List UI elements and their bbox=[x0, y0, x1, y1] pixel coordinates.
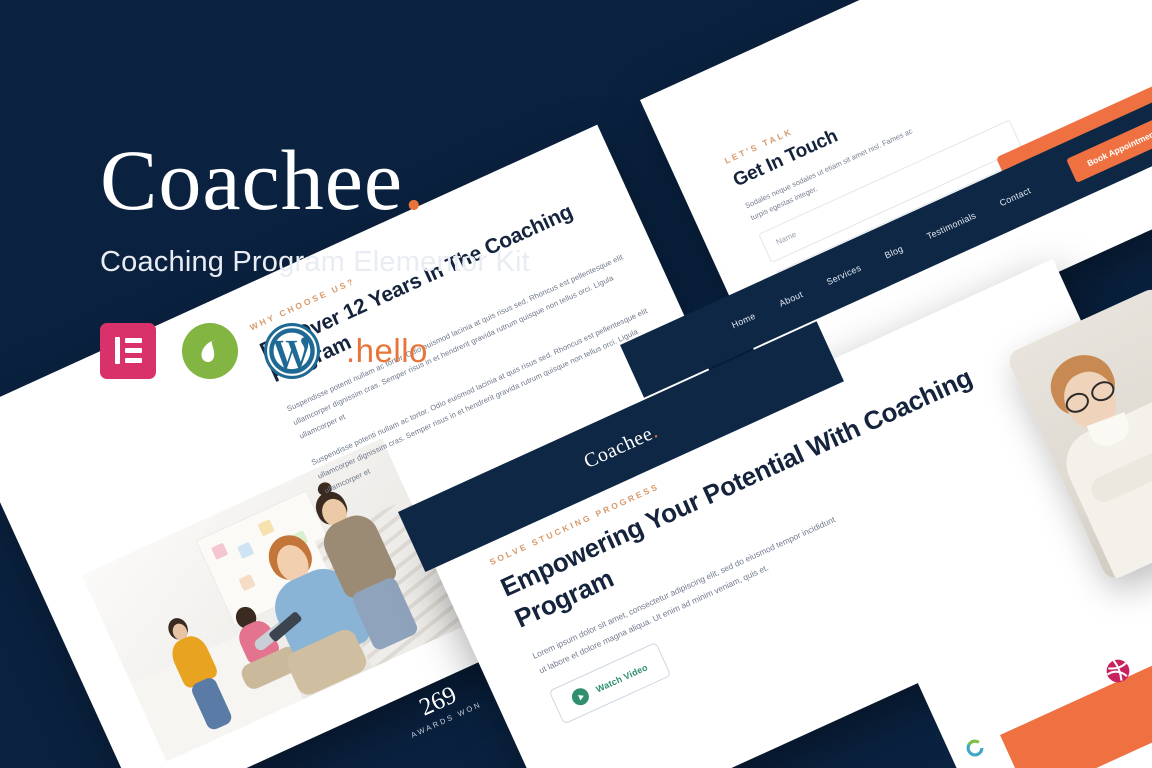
loading-ring-logo bbox=[965, 738, 985, 758]
page-title: Coachee. bbox=[100, 140, 620, 222]
play-icon bbox=[569, 686, 592, 709]
sticky-note bbox=[239, 574, 256, 591]
tech-badges: .hello bbox=[100, 323, 620, 379]
sticky-note bbox=[211, 543, 228, 560]
footer-logo: Coachee. bbox=[580, 420, 661, 474]
nav-item-home[interactable]: Home bbox=[730, 311, 757, 331]
brand-title-dot: . bbox=[403, 132, 426, 228]
envato-glyph bbox=[193, 334, 227, 368]
nav-item-blog[interactable]: Blog bbox=[883, 244, 905, 261]
wordpress-logo bbox=[264, 323, 320, 379]
envato-logo bbox=[182, 323, 238, 379]
brand-subtitle: Coaching Program Elementor Kit bbox=[100, 246, 620, 279]
footer-logo-text: Coachee bbox=[580, 422, 656, 472]
elementor-glyph bbox=[115, 337, 142, 364]
wordpress-glyph bbox=[266, 325, 318, 377]
brand-block: Coachee. Coaching Program Elementor Kit bbox=[100, 140, 620, 379]
hello-theme-logo: .hello bbox=[346, 332, 428, 370]
elementor-logo bbox=[100, 323, 156, 379]
nav-item-testimonials[interactable]: Testimonials bbox=[925, 210, 977, 241]
sticky-note bbox=[257, 519, 274, 536]
nav-item-about[interactable]: About bbox=[778, 289, 805, 308]
poster-canvas: LET'S TALK Get In Touch Sodales neque so… bbox=[0, 0, 1152, 768]
nav-item-contact[interactable]: Contact bbox=[998, 185, 1032, 208]
nav-item-services[interactable]: Services bbox=[825, 263, 863, 287]
watch-video-label: Watch Video bbox=[594, 662, 649, 694]
dribbble-logo bbox=[1104, 657, 1132, 685]
brand-title-text: Coachee bbox=[100, 132, 403, 228]
sticky-note bbox=[237, 542, 254, 559]
